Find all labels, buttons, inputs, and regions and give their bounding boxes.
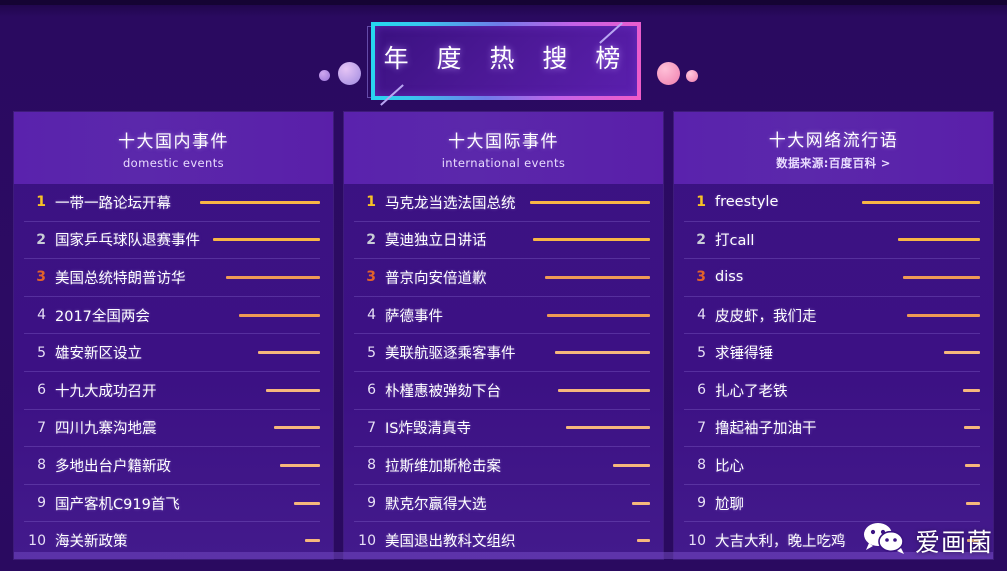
rank-bar [862,201,980,204]
rank-bar [213,238,320,241]
ranking-row[interactable]: 3diss [684,259,980,297]
rank-number: 1 [354,194,376,210]
rank-label: 马克龙当选法国总统 [385,192,516,213]
rank-label: freestyle [715,194,778,210]
ranking-row[interactable]: 1freestyle [684,184,980,222]
rank-number: 10 [24,533,46,549]
rank-bar [200,201,320,204]
rank-bar [266,389,320,392]
rank-label: 十九大成功召开 [55,380,157,401]
rank-number: 1 [24,194,46,210]
ranking-list: 1一带一路论坛开幕2国家乒乓球队退赛事件3美国总统特朗普访华42017全国两会5… [14,184,333,559]
rank-bar [555,351,650,354]
rank-bar [274,426,320,429]
rank-label: 美联航驱逐乘客事件 [385,342,516,363]
rank-label: 默克尔赢得大选 [385,493,487,514]
rank-bar [294,502,320,505]
wechat-icon [862,522,906,559]
rank-bar [545,276,650,279]
top-strip [0,0,1007,5]
decorative-dot-right-large [657,62,680,85]
rank-label: 国产客机C919首飞 [55,493,180,514]
footer-band [14,552,993,559]
ranking-row[interactable]: 5美联航驱逐乘客事件 [354,334,650,372]
rank-label: 国家乒乓球队退赛事件 [55,229,200,250]
rank-number: 7 [684,420,706,436]
rank-number: 4 [684,307,706,323]
ranking-row[interactable]: 7四川九寨沟地震 [24,410,320,448]
rank-bar [898,238,980,241]
rank-bar [258,351,320,354]
ranking-columns: 十大国内事件domestic events1一带一路论坛开幕2国家乒乓球队退赛事… [0,112,1007,559]
card-header: 十大国际事件international events [344,112,663,184]
ranking-row[interactable]: 9国产客机C919首飞 [24,485,320,523]
rank-label: 撸起袖子加油干 [715,417,817,438]
ranking-row[interactable]: 9尬聊 [684,485,980,523]
rank-number: 8 [684,457,706,473]
rank-bar [637,539,650,542]
rank-label: 打call [715,229,754,250]
rank-label: 美国总统特朗普访华 [55,267,186,288]
rank-bar [305,539,320,542]
rank-label: 美国退出教科文组织 [385,530,516,551]
rank-number: 10 [354,533,376,549]
rank-number: 3 [684,269,706,285]
ranking-row[interactable]: 8拉斯维加斯枪击案 [354,447,650,485]
rank-number: 4 [24,307,46,323]
rank-number: 1 [684,194,706,210]
rank-number: 8 [24,457,46,473]
ranking-row[interactable]: 1一带一路论坛开幕 [24,184,320,222]
card-subtitle: domestic events [123,156,224,170]
rank-label: IS炸毁清真寺 [385,417,471,438]
rank-label: 普京向安倍道歉 [385,267,487,288]
rank-label: 皮皮虾，我们走 [715,305,817,326]
ranking-list: 1马克龙当选法国总统2莫迪独立日讲话3普京向安倍道歉4萨德事件5美联航驱逐乘客事… [344,184,663,559]
rank-number: 4 [354,307,376,323]
rank-label: diss [715,269,743,285]
rank-label: 求锤得锤 [715,342,773,363]
card-title: 十大网络流行语 [769,126,899,151]
rank-number: 5 [684,345,706,361]
ranking-row[interactable]: 9默克尔赢得大选 [354,485,650,523]
rank-bar [239,314,320,317]
title-banner: 年 度 热 搜 榜 [305,18,700,104]
rank-number: 8 [354,457,376,473]
card-header: 十大国内事件domestic events [14,112,333,184]
rank-number: 5 [24,345,46,361]
watermark: 爱画菌 [862,522,993,559]
rank-number: 6 [354,382,376,398]
rank-bar [280,464,320,467]
rank-bar [964,426,980,429]
rank-bar [613,464,650,467]
rank-label: 尬聊 [715,493,744,514]
card-title: 十大国内事件 [118,127,229,152]
rank-label: 拉斯维加斯枪击案 [385,455,501,476]
rank-label: 扎心了老铁 [715,380,788,401]
rank-bar [903,276,980,279]
ranking-row[interactable]: 6扎心了老铁 [684,372,980,410]
rank-number: 2 [684,232,706,248]
ranking-card: 十大国内事件domestic events1一带一路论坛开幕2国家乒乓球队退赛事… [14,112,333,559]
rank-number: 3 [354,269,376,285]
ranking-row[interactable]: 7IS炸毁清真寺 [354,410,650,448]
rank-label: 比心 [715,455,744,476]
ranking-list: 1freestyle2打call3diss4皮皮虾，我们走5求锤得锤6扎心了老铁… [674,184,993,559]
watermark-name: 爱画菌 [915,523,993,559]
decorative-dot-left-small [319,70,330,81]
rank-bar [944,351,980,354]
ranking-row[interactable]: 42017全国两会 [24,297,320,335]
decorative-dot-left-large [338,62,361,85]
card-header: 十大网络流行语数据来源:百度百科 > [674,112,993,184]
rank-label: 海关新政策 [55,530,128,551]
rank-label: 多地出台户籍新政 [55,455,171,476]
rank-label: 莫迪独立日讲话 [385,229,487,250]
ranking-row[interactable]: 2国家乒乓球队退赛事件 [24,222,320,260]
rank-number: 9 [684,495,706,511]
ranking-row[interactable]: 1马克龙当选法国总统 [354,184,650,222]
rank-bar [632,502,650,505]
rank-bar [226,276,320,279]
ranking-card: 十大国际事件international events1马克龙当选法国总统2莫迪独… [344,112,663,559]
ranking-row[interactable]: 8多地出台户籍新政 [24,447,320,485]
decorative-dot-right-small [686,70,698,82]
ranking-row[interactable]: 4皮皮虾，我们走 [684,297,980,335]
rank-bar [966,502,980,505]
rank-number: 2 [354,232,376,248]
ranking-row[interactable]: 3普京向安倍道歉 [354,259,650,297]
rank-number: 3 [24,269,46,285]
rank-label: 大吉大利，晚上吃鸡 [715,530,846,551]
rank-label: 一带一路论坛开幕 [55,192,171,213]
rank-number: 2 [24,232,46,248]
rank-label: 2017全国两会 [55,305,150,326]
ranking-row[interactable]: 6十九大成功召开 [24,372,320,410]
rank-bar [547,314,650,317]
poster-title: 年 度 热 搜 榜 [371,22,633,92]
rank-bar [907,314,980,317]
rank-bar [963,389,980,392]
ranking-row[interactable]: 5雄安新区设立 [24,334,320,372]
rank-number: 6 [24,382,46,398]
ranking-row[interactable]: 2莫迪独立日讲话 [354,222,650,260]
card-title: 十大国际事件 [448,127,559,152]
ranking-row[interactable]: 6朴槿惠被弹劾下台 [354,372,650,410]
card-source-link[interactable]: 数据来源:百度百科 > [776,155,891,171]
rank-label: 四川九寨沟地震 [55,417,157,438]
rank-bar [558,389,650,392]
rank-label: 雄安新区设立 [55,342,142,363]
ranking-card: 十大网络流行语数据来源:百度百科 >1freestyle2打call3diss4… [674,112,993,559]
ranking-row[interactable]: 3美国总统特朗普访华 [24,259,320,297]
ranking-row[interactable]: 7撸起袖子加油干 [684,410,980,448]
poster-stage: 年 度 热 搜 榜 十大国内事件domestic events1一带一路论坛开幕… [0,0,1007,571]
rank-bar [533,238,650,241]
rank-bar [530,201,650,204]
rank-bar [566,426,650,429]
rank-number: 10 [684,533,706,549]
rank-number: 5 [354,345,376,361]
rank-bar [965,464,980,467]
ranking-row[interactable]: 8比心 [684,447,980,485]
rank-number: 9 [24,495,46,511]
rank-label: 朴槿惠被弹劾下台 [385,380,501,401]
rank-number: 9 [354,495,376,511]
card-subtitle: international events [442,156,566,170]
rank-number: 7 [354,420,376,436]
ranking-row[interactable]: 2打call [684,222,980,260]
ranking-row[interactable]: 5求锤得锤 [684,334,980,372]
ranking-row[interactable]: 4萨德事件 [354,297,650,335]
rank-number: 7 [24,420,46,436]
rank-label: 萨德事件 [385,305,443,326]
rank-number: 6 [684,382,706,398]
